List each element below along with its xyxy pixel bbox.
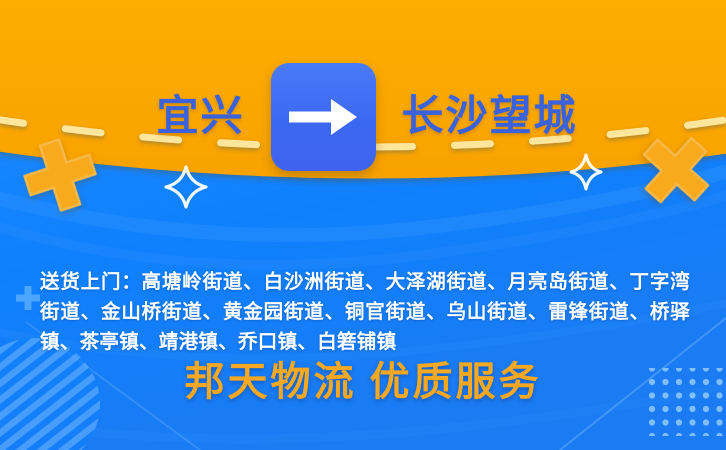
logistics-route-banner: 宜兴 长沙望城 送货上门：高塘岭街道、白沙洲街道、大泽湖街道、月亮岛街道、丁字湾… — [0, 0, 726, 450]
company-slogan: 邦天物流 优质服务 — [0, 362, 726, 402]
delivery-coverage-text: 送货上门：高塘岭街道、白沙洲街道、大泽湖街道、月亮岛街道、丁字湾街道、金山桥街道… — [40, 268, 690, 358]
origin-city: 宜兴 — [135, 96, 245, 138]
route-arrow-button[interactable] — [271, 63, 376, 171]
arrow-right-icon — [287, 94, 359, 140]
route-header: 宜兴 长沙望城 — [0, 62, 726, 172]
destination-city: 长沙望城 — [402, 96, 592, 138]
